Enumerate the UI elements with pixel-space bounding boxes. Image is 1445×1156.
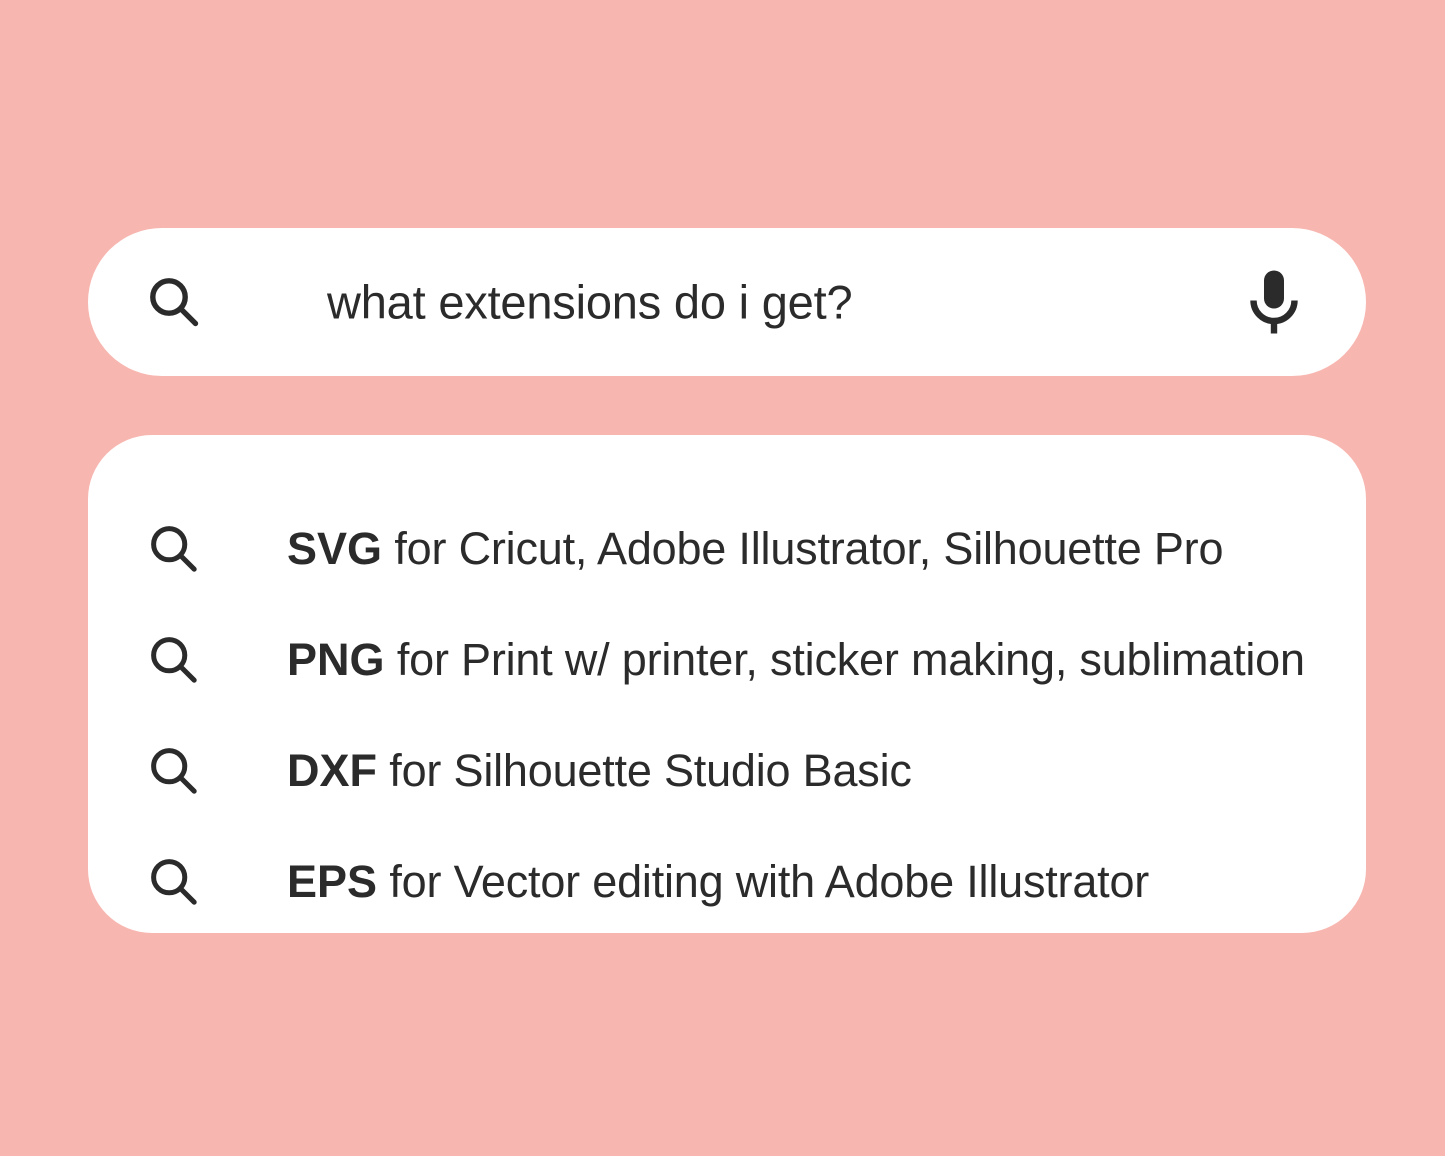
result-label: SVG for Cricut, Adobe Illustrator, Silho…	[287, 523, 1223, 575]
result-description: for Print w/ printer, sticker making, su…	[385, 634, 1305, 685]
search-icon	[146, 743, 202, 799]
search-icon	[146, 632, 202, 688]
search-bar[interactable]: what extensions do i get?	[88, 228, 1366, 376]
result-row-eps[interactable]: EPS for Vector editing with Adobe Illust…	[88, 826, 1366, 937]
microphone-icon[interactable]	[1244, 268, 1304, 336]
result-format: SVG	[287, 523, 382, 574]
page-canvas: what extensions do i get? SVG for Cricut…	[0, 0, 1445, 1156]
result-description: for Cricut, Adobe Illustrator, Silhouett…	[382, 523, 1223, 574]
search-icon	[146, 521, 202, 577]
result-description: for Vector editing with Adobe Illustrato…	[377, 856, 1149, 907]
search-icon[interactable]	[146, 274, 202, 330]
result-row-dxf[interactable]: DXF for Silhouette Studio Basic	[88, 715, 1366, 826]
result-row-png[interactable]: PNG for Print w/ printer, sticker making…	[88, 604, 1366, 715]
result-format: PNG	[287, 634, 385, 685]
result-row-svg[interactable]: SVG for Cricut, Adobe Illustrator, Silho…	[88, 493, 1366, 604]
result-description: for Silhouette Studio Basic	[377, 745, 912, 796]
result-label: DXF for Silhouette Studio Basic	[287, 745, 912, 797]
result-format: EPS	[287, 856, 377, 907]
search-input[interactable]: what extensions do i get?	[327, 275, 852, 330]
search-results-card: SVG for Cricut, Adobe Illustrator, Silho…	[88, 435, 1366, 933]
search-icon	[146, 854, 202, 910]
result-format: DXF	[287, 745, 377, 796]
result-label: EPS for Vector editing with Adobe Illust…	[287, 856, 1149, 908]
result-label: PNG for Print w/ printer, sticker making…	[287, 634, 1305, 686]
